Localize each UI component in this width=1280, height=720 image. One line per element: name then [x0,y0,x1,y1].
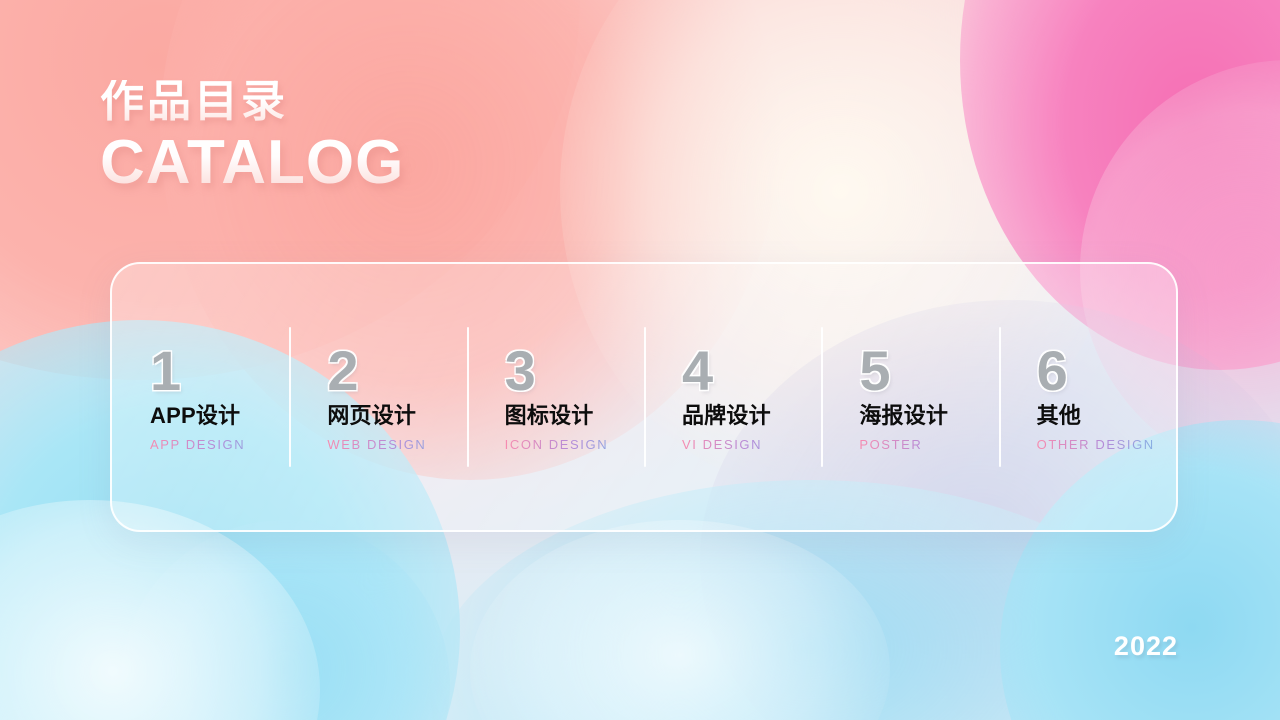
catalog-item-number: 2 [327,343,466,399]
catalog-item-subtitle: VI DESIGN [682,438,821,451]
catalog-card: 1 APP设计 APP DESIGN 2 网页设计 WEB DESIGN 3 图… [110,262,1178,532]
catalog-item-subtitle: POSTER [859,438,998,451]
catalog-item-number: 1 [150,343,289,399]
catalog-item-number: 4 [682,343,821,399]
catalog-item-title: 海报设计 [859,403,998,429]
catalog-item-4[interactable]: 4 品牌设计 VI DESIGN [644,264,821,530]
catalog-item-5[interactable]: 5 海报设计 POSTER [821,264,998,530]
catalog-item-subtitle: APP DESIGN [150,438,289,451]
white-sheen-bottom-left [0,500,320,720]
catalog-item-subtitle: OTHER DESIGN [1037,438,1176,451]
catalog-item-number: 5 [859,343,998,399]
catalog-item-subtitle: WEB DESIGN [327,438,466,451]
catalog-item-6[interactable]: 6 其他 OTHER DESIGN [999,264,1176,530]
catalog-item-title: APP设计 [150,403,289,429]
cyan-blob-small [120,520,450,720]
catalog-item-2[interactable]: 2 网页设计 WEB DESIGN [289,264,466,530]
catalog-item-number: 3 [505,343,644,399]
catalog-item-number: 6 [1037,343,1176,399]
catalog-slide: 作品目录 CATALOG 1 APP设计 APP DESIGN 2 网页设计 W… [0,0,1280,720]
title-block: 作品目录 CATALOG [100,80,404,194]
catalog-item-1[interactable]: 1 APP设计 APP DESIGN [112,264,289,530]
catalog-item-title: 品牌设计 [682,403,821,429]
catalog-item-title: 其他 [1037,403,1176,429]
page-title-english: CATALOG [100,132,404,194]
catalog-item-title: 图标设计 [505,403,644,429]
year-label: 2022 [1114,631,1178,662]
page-title-chinese: 作品目录 [100,80,404,124]
catalog-item-title: 网页设计 [327,403,466,429]
catalog-item-subtitle: ICON DESIGN [505,438,644,451]
catalog-item-3[interactable]: 3 图标设计 ICON DESIGN [467,264,644,530]
white-sheen-middle [470,520,890,720]
